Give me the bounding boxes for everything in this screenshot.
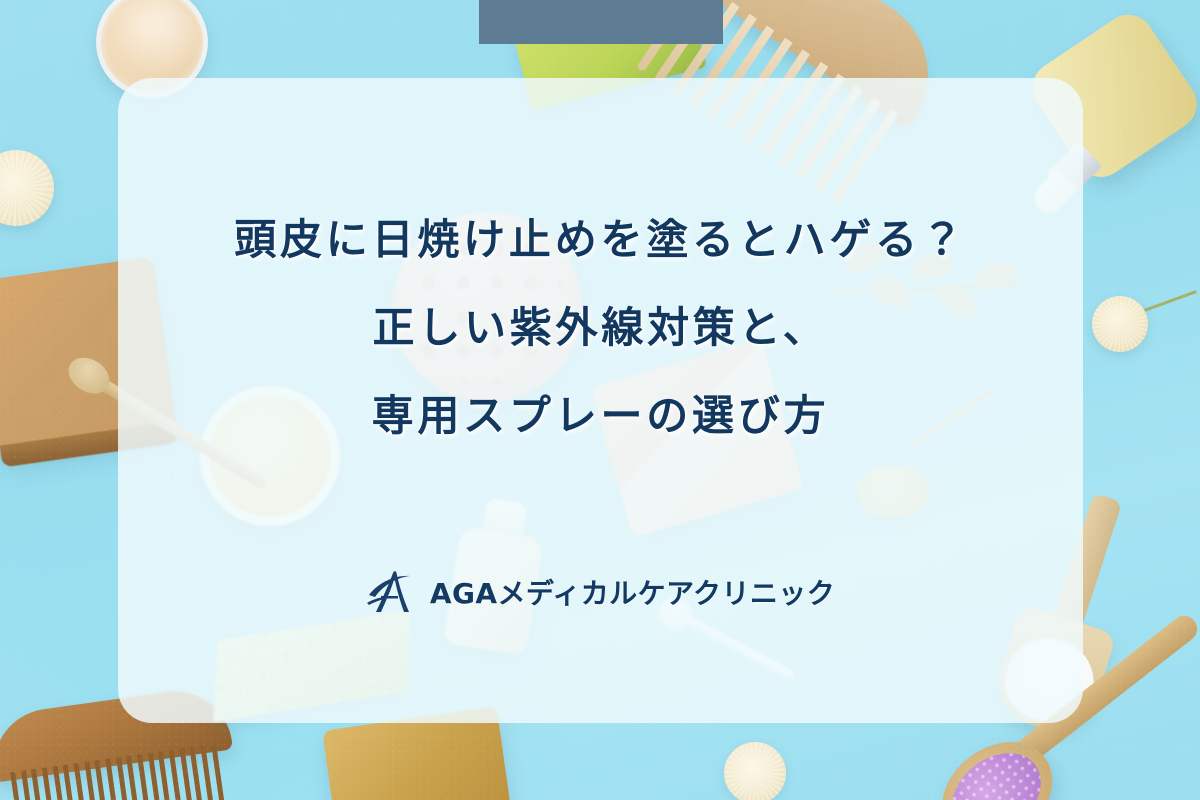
page-title: 頭皮に日焼け止めを塗るとハゲる？ 正しい紫外線対策と、 専用スプレーの選び方 (118, 196, 1083, 460)
pom-pom-flower-left-prop (0, 150, 54, 226)
brand-name: AGAメディカルケアクリニック (430, 572, 835, 612)
comb-dark-teeth (10, 744, 225, 800)
bath-salt (935, 736, 1057, 800)
pom-pom-right-stem (1141, 290, 1197, 313)
page-title-line-2: 正しい紫外線対策と、 (118, 284, 1083, 372)
salt-spoon-bowl (921, 721, 1072, 800)
aga-monogram-icon (366, 568, 416, 616)
page-title-line-1: 頭皮に日焼け止めを塗るとハゲる？ (118, 196, 1083, 284)
pom-pom-flower-bottom-prop (724, 742, 786, 800)
brand-logo: AGAメディカルケアクリニック (118, 568, 1083, 616)
page-title-line-3: 専用スプレーの選び方 (118, 372, 1083, 460)
hero-banner: 頭皮に日焼け止めを塗るとハゲる？ 正しい紫外線対策と、 専用スプレーの選び方 A… (0, 0, 1200, 800)
pom-pom-flower-right-prop (1092, 296, 1148, 352)
top-banner-strip (479, 0, 723, 44)
dipper-knob (62, 350, 116, 400)
